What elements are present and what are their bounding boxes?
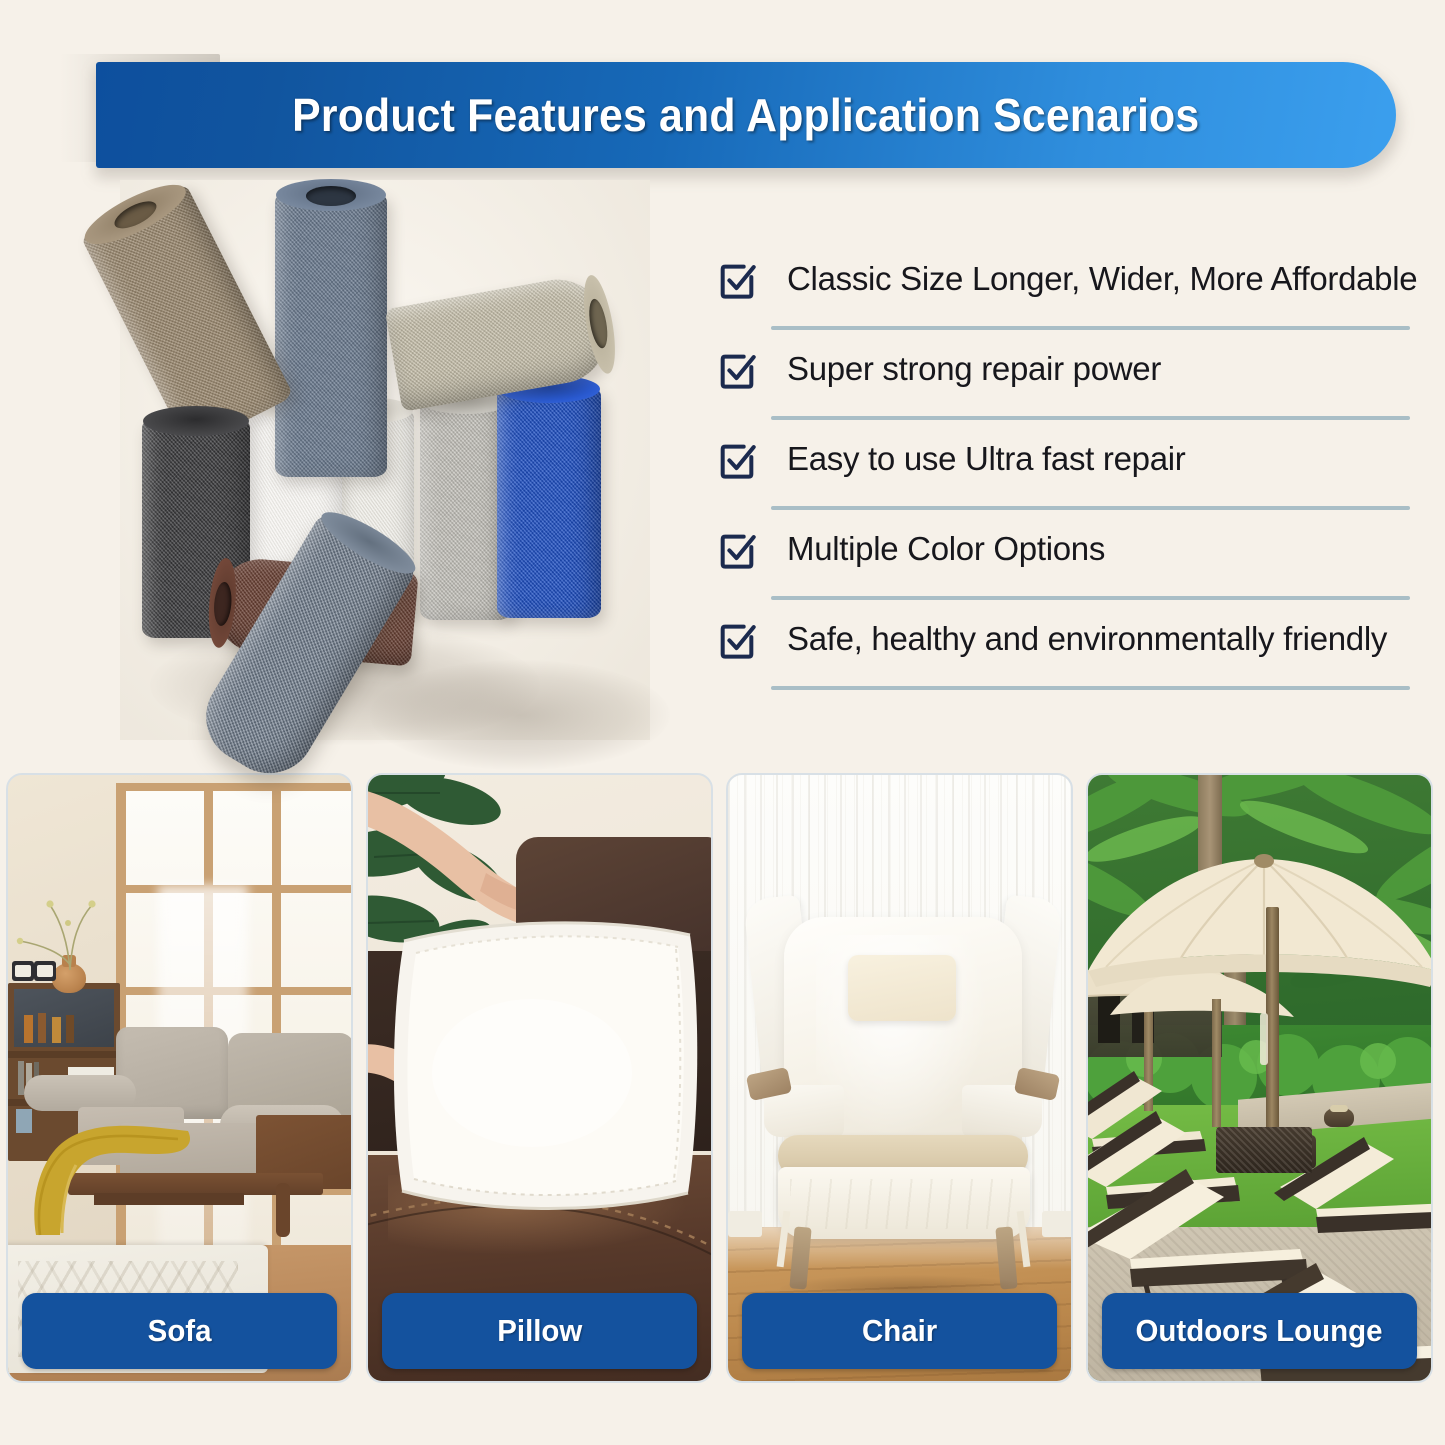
feature-divider — [771, 416, 1410, 420]
product-image — [120, 180, 650, 740]
tape-roll-royal-blue — [497, 386, 601, 618]
scenario-card-pillow[interactable]: Pillow — [366, 773, 713, 1383]
feature-item: Classic Size Longer, Wider, More Afforda… — [716, 248, 1406, 338]
feature-label: Super strong repair power — [787, 350, 1161, 388]
checkbox-check-icon — [716, 258, 758, 300]
outdoor-lounge-scene — [1088, 775, 1431, 1381]
caption-label: Outdoors Lounge — [1136, 1313, 1383, 1349]
feature-item: Multiple Color Options — [716, 518, 1406, 608]
scenario-cards: Sofa — [0, 773, 1445, 1445]
feature-label: Classic Size Longer, Wider, More Afforda… — [787, 260, 1417, 298]
caption-label: Sofa — [148, 1313, 212, 1349]
pillow-scene — [368, 775, 711, 1381]
sofa-scene — [8, 775, 351, 1381]
caption-bar: Chair — [742, 1293, 1057, 1369]
feature-label: Safe, healthy and environmentally friend… — [787, 620, 1387, 658]
checkbox-check-icon — [716, 348, 758, 390]
feature-item: Easy to use Ultra fast repair — [716, 428, 1406, 518]
scenario-card-outdoors-lounge[interactable]: Outdoors Lounge — [1086, 773, 1433, 1383]
feature-item: Super strong repair power — [716, 338, 1406, 428]
product-shadow — [370, 660, 670, 770]
checkbox-check-icon — [716, 528, 758, 570]
tape-roll-blue-gray — [275, 192, 387, 477]
header-banner: Product Features and Application Scenari… — [0, 46, 1445, 176]
banner-bar: Product Features and Application Scenari… — [96, 62, 1396, 168]
chair-scene — [728, 775, 1071, 1381]
caption-bar: Pillow — [382, 1293, 697, 1369]
checkbox-check-icon — [716, 618, 758, 660]
feature-divider — [771, 326, 1410, 330]
feature-label: Multiple Color Options — [787, 530, 1105, 568]
caption-bar: Outdoors Lounge — [1102, 1293, 1417, 1369]
caption-bar: Sofa — [22, 1293, 337, 1369]
caption-label: Chair — [862, 1313, 937, 1349]
scenario-card-sofa[interactable]: Sofa — [6, 773, 353, 1383]
feature-divider — [771, 686, 1410, 690]
checkbox-check-icon — [716, 438, 758, 480]
feature-item: Safe, healthy and environmentally friend… — [716, 608, 1406, 698]
caption-label: Pillow — [497, 1313, 582, 1349]
feature-label: Easy to use Ultra fast repair — [787, 440, 1185, 478]
scenario-card-chair[interactable]: Chair — [726, 773, 1073, 1383]
feature-divider — [771, 596, 1410, 600]
feature-list: Classic Size Longer, Wider, More Afforda… — [716, 248, 1406, 698]
feature-divider — [771, 506, 1410, 510]
page-title: Product Features and Application Scenari… — [292, 88, 1199, 142]
